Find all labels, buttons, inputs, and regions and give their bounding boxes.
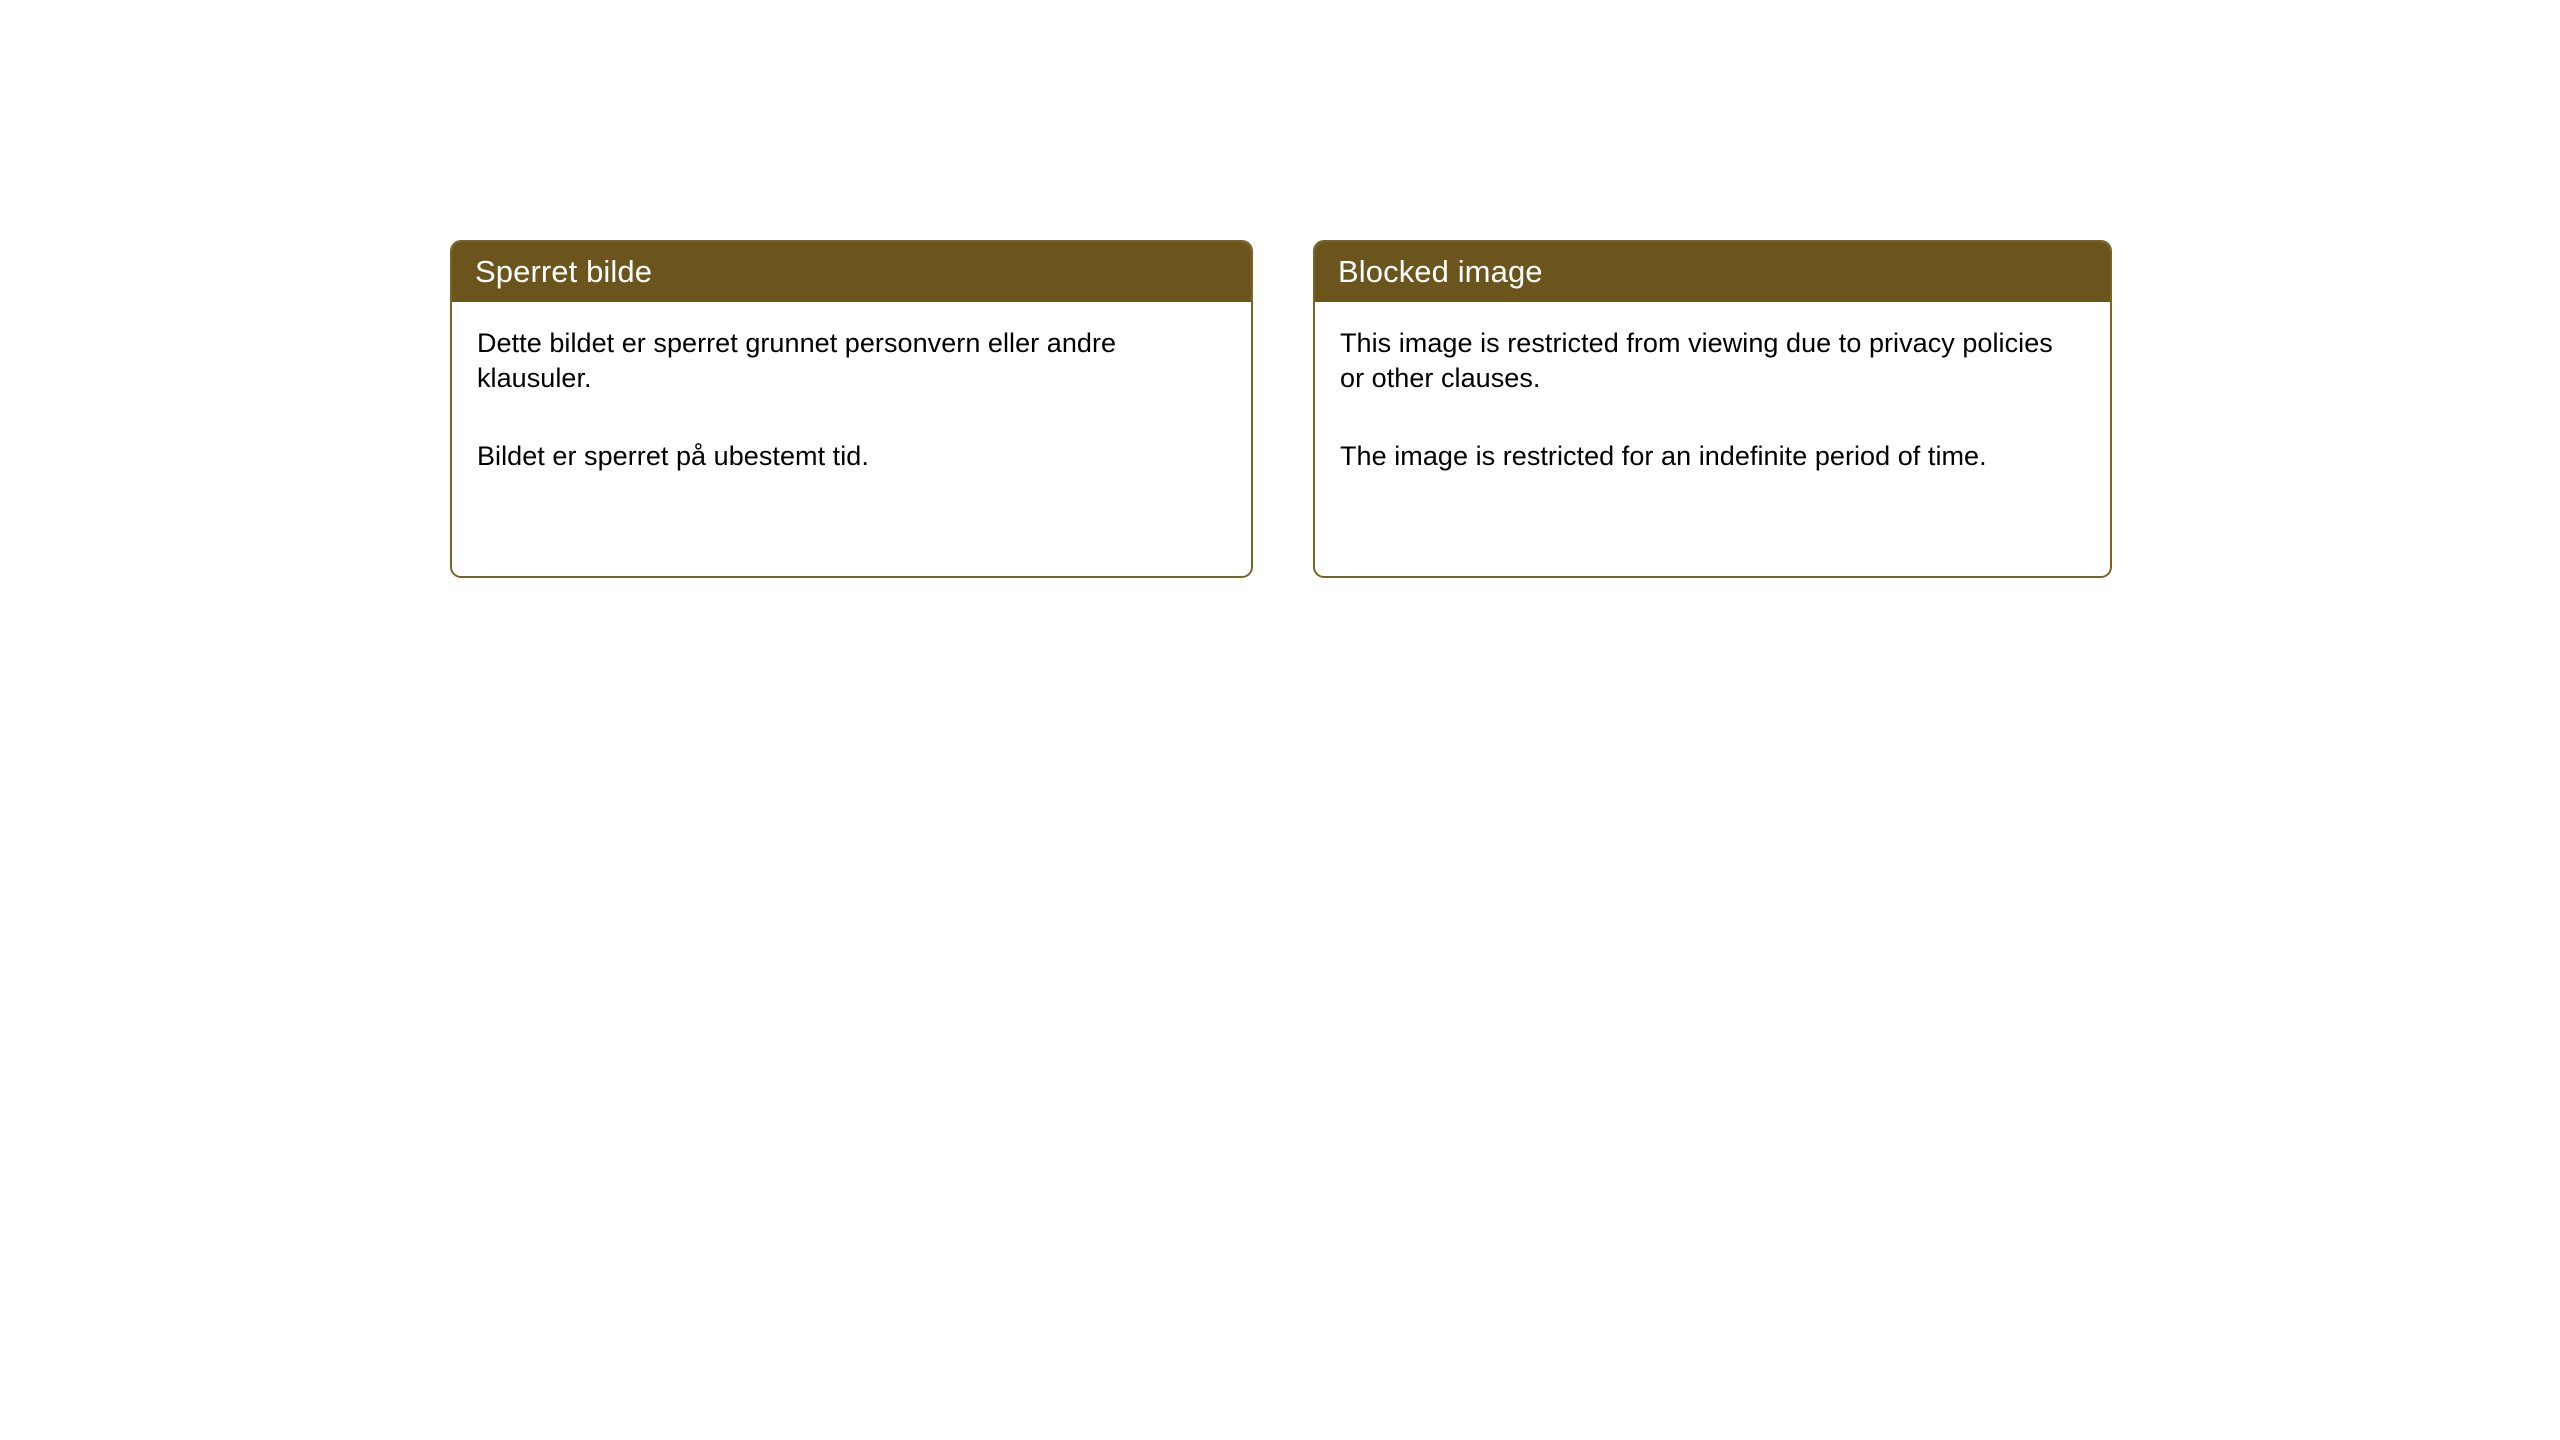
page-canvas: Sperret bilde Dette bildet er sperret gr… — [0, 0, 2560, 1440]
card-body-norwegian: Dette bildet er sperret grunnet personve… — [452, 302, 1251, 474]
card-paragraph-reason-norwegian: Dette bildet er sperret grunnet personve… — [477, 326, 1225, 396]
blocked-image-notice-card-norwegian: Sperret bilde Dette bildet er sperret gr… — [450, 240, 1253, 578]
card-header-norwegian: Sperret bilde — [450, 240, 1253, 302]
card-paragraph-duration-english: The image is restricted for an indefinit… — [1340, 439, 2084, 474]
card-paragraph-reason-english: This image is restricted from viewing du… — [1340, 326, 2084, 396]
card-title-norwegian: Sperret bilde — [475, 256, 652, 287]
card-header-english: Blocked image — [1313, 240, 2112, 302]
card-body-english: This image is restricted from viewing du… — [1315, 302, 2110, 474]
card-paragraph-duration-norwegian: Bildet er sperret på ubestemt tid. — [477, 439, 1225, 474]
card-title-english: Blocked image — [1338, 256, 1543, 287]
blocked-image-notice-card-english: Blocked image This image is restricted f… — [1313, 240, 2112, 578]
